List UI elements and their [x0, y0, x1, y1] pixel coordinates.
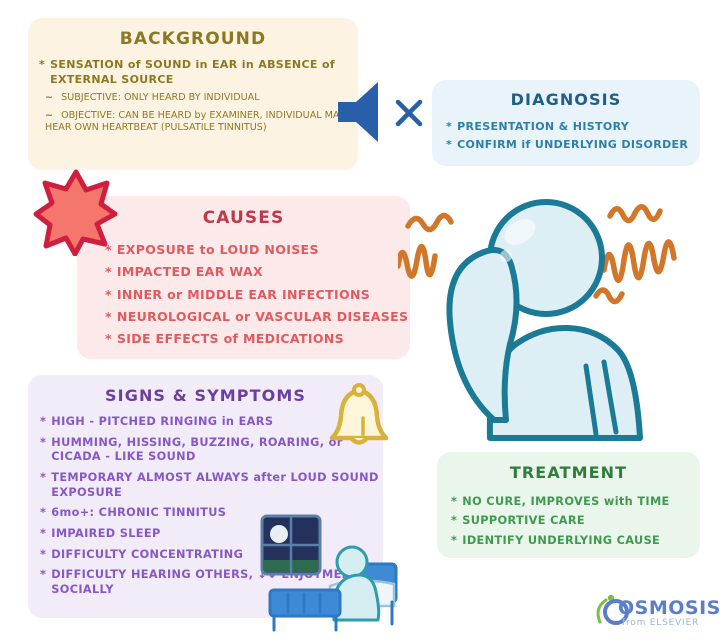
diagnosis-bullet-text: PRESENTATION & HISTORY: [457, 118, 700, 136]
bullet-marker: *: [446, 118, 452, 136]
diagnosis-title: DIAGNOSIS: [432, 90, 700, 109]
list-item: ~ SUBJECTIVE: ONLY HEARD BY INDIVIDUAL: [45, 92, 358, 104]
night-window-icon: [262, 516, 320, 574]
treatment-bullet-list: * NO CURE, IMPROVES with TIME * SUPPORTI…: [451, 492, 700, 550]
list-item: * INNER or MIDDLE EAR INFECTIONS: [105, 284, 410, 306]
bullet-marker: *: [40, 548, 46, 563]
bullet-marker: *: [40, 506, 46, 521]
causes-panel: CAUSES * EXPOSURE to LOUD NOISES * IMPAC…: [77, 196, 410, 359]
bullet-marker: *: [39, 58, 45, 73]
diagnosis-bullet-text: CONFIRM if UNDERLYING DISORDER: [457, 136, 700, 154]
list-item: ~ OBJECTIVE: CAN BE HEARD by EXAMINER, I…: [45, 110, 358, 135]
causes-bullet-text: SIDE EFFECTS of MEDICATIONS: [117, 328, 410, 350]
list-item: * SUPPORTIVE CARE: [451, 511, 700, 530]
causes-bullet-list: * EXPOSURE to LOUD NOISES * IMPACTED EAR…: [105, 239, 410, 350]
bullet-marker: *: [105, 261, 112, 283]
bullet-marker: *: [40, 568, 46, 583]
bullet-marker: *: [446, 136, 452, 154]
sub-bullet-marker: ~: [45, 92, 53, 103]
logo-wordmark: OSMOSIS: [618, 597, 720, 619]
background-sub-list: ~ SUBJECTIVE: ONLY HEARD BY INDIVIDUAL ~…: [45, 92, 358, 134]
treatment-bullet-text: IDENTIFY UNDERLYING CAUSE: [462, 531, 700, 550]
background-panel: BACKGROUND * SENSATION of SOUND in EAR i…: [28, 18, 358, 170]
list-item: * NO CURE, IMPROVES with TIME: [451, 492, 700, 511]
treatment-bullet-text: NO CURE, IMPROVES with TIME: [462, 492, 700, 511]
background-sub-text: OBJECTIVE: CAN BE HEARD by EXAMINER, IND…: [45, 110, 345, 133]
causes-title: CAUSES: [77, 208, 410, 228]
bullet-marker: *: [451, 511, 457, 530]
osmosis-logo: OSMOSIS from ELSEVIER: [592, 592, 712, 640]
logo-tagline: from ELSEVIER: [622, 618, 699, 628]
diagnosis-bullet-list: * PRESENTATION & HISTORY * CONFIRM if UN…: [446, 118, 700, 154]
bullet-marker: *: [105, 328, 112, 350]
background-sub-text: SUBJECTIVE: ONLY HEARD BY INDIVIDUAL: [61, 92, 259, 103]
list-item: * CONFIRM if UNDERLYING DISORDER: [446, 136, 700, 154]
bullet-marker: *: [40, 436, 46, 451]
causes-bullet-text: NEUROLOGICAL or VASCULAR DISEASES: [117, 306, 410, 328]
bullet-marker: *: [40, 471, 46, 486]
bullet-marker: *: [451, 492, 457, 511]
bullet-marker: *: [105, 306, 112, 328]
soundwave-right: [596, 207, 674, 302]
bell-icon: [323, 382, 395, 456]
soundwave-left: [398, 216, 451, 277]
list-item: * IDENTIFY UNDERLYING CAUSE: [451, 531, 700, 550]
list-item: * EXPOSURE to LOUD NOISES: [105, 239, 410, 261]
list-item: * PRESENTATION & HISTORY: [446, 118, 700, 136]
causes-bullet-text: INNER or MIDDLE EAR INFECTIONS: [117, 284, 410, 306]
bullet-marker: *: [40, 415, 46, 430]
background-bullet-list: * SENSATION of SOUND in EAR in ABSENCE o…: [39, 58, 358, 87]
signs-bullet-text: TEMPORARY ALMOST ALWAYS after LOUD SOUND…: [51, 471, 383, 500]
causes-bullet-text: IMPACTED EAR WAX: [117, 261, 410, 283]
causes-bullet-text: EXPOSURE to LOUD NOISES: [117, 239, 410, 261]
diagnosis-panel: DIAGNOSIS * PRESENTATION & HISTORY * CON…: [432, 80, 700, 166]
list-item: * TEMPORARY ALMOST ALWAYS after LOUD SOU…: [40, 471, 383, 500]
impaired-sleep-illustration: [256, 512, 401, 638]
treatment-title: TREATMENT: [437, 463, 700, 482]
person-covering-ear-illustration: [398, 188, 698, 447]
list-item: * SENSATION of SOUND in EAR in ABSENCE o…: [39, 58, 358, 87]
bullet-marker: *: [451, 531, 457, 550]
treatment-panel: TREATMENT * NO CURE, IMPROVES with TIME …: [437, 452, 700, 558]
muted-speaker-icon: [334, 74, 430, 154]
list-item: * IMPACTED EAR WAX: [105, 261, 410, 283]
list-item: * NEUROLOGICAL or VASCULAR DISEASES: [105, 306, 410, 328]
infographic-canvas: BACKGROUND * SENSATION of SOUND in EAR i…: [0, 0, 720, 644]
background-title: BACKGROUND: [28, 29, 358, 49]
list-item: * SIDE EFFECTS of MEDICATIONS: [105, 328, 410, 350]
background-bullet-text: SENSATION of SOUND in EAR in ABSENCE of …: [50, 58, 358, 87]
sub-bullet-marker: ~: [45, 110, 53, 121]
starburst-icon: [33, 168, 119, 260]
bullet-marker: *: [40, 527, 46, 542]
treatment-bullet-text: SUPPORTIVE CARE: [462, 511, 700, 530]
bullet-marker: *: [105, 284, 112, 306]
